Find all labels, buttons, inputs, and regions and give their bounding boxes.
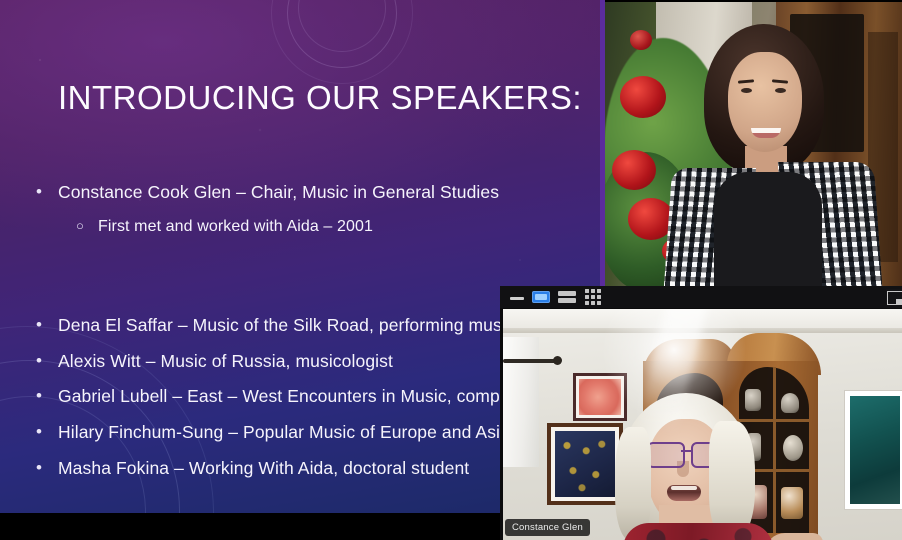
bullet-marker-icon: • — [36, 183, 58, 202]
slide-bullet-group-speakers: • Dena El Saffar – Music of the Silk Roa… — [36, 316, 538, 494]
video-shelf-item — [781, 487, 803, 519]
glasses-lens-left — [647, 442, 685, 468]
video-call-window[interactable]: Constance Glen — [500, 286, 902, 540]
photo-geranium-flower — [612, 150, 656, 190]
sub-bullet-marker-icon: ○ — [76, 219, 98, 233]
sub-bullet-text: First met and worked with Aida – 2001 — [98, 219, 373, 236]
participant-name-label: Constance Glen — [505, 519, 590, 536]
photo-left-border — [600, 0, 605, 286]
photo-person-eye — [741, 88, 752, 93]
photo-person-inner-top — [714, 172, 822, 286]
sub-bullet-item: ○ First met and worked with Aida – 2001 — [36, 219, 499, 236]
screen: INTRODUCING OUR SPEAKERS: • Constance Co… — [0, 0, 902, 540]
bullet-item: • Alexis Witt – Music of Russia, musicol… — [36, 352, 538, 371]
bullet-marker-icon: • — [36, 459, 58, 478]
photo-geranium-flower — [620, 76, 666, 118]
bullet-item: • Gabriel Lubell – East – West Encounter… — [36, 387, 538, 406]
slide-title: INTRODUCING OUR SPEAKERS: — [58, 79, 582, 117]
bullet-marker-icon: • — [36, 423, 58, 442]
side-by-side-view-icon[interactable] — [558, 291, 576, 303]
video-feed[interactable]: Constance Glen — [503, 309, 902, 540]
speaker-portrait-image — [604, 2, 902, 286]
bullet-item: • Constance Cook Glen – Chair, Music in … — [36, 183, 499, 202]
bullet-item: • Dena El Saffar – Music of the Silk Roa… — [36, 316, 538, 335]
video-shelf-item — [781, 393, 799, 413]
video-framed-art-right — [845, 391, 902, 509]
speaker-portrait-tile — [600, 0, 902, 286]
video-person-mouth — [667, 485, 701, 501]
bullet-text: Dena El Saffar – Music of the Silk Road,… — [58, 316, 538, 334]
video-window-curtain — [503, 337, 539, 467]
photo-geranium-flower — [630, 30, 652, 50]
bullet-text: Alexis Witt – Music of Russia, musicolog… — [58, 352, 393, 370]
video-curtain-rod-knob — [553, 356, 562, 365]
bullet-item: • Masha Fokina – Working With Aida, doct… — [36, 459, 538, 478]
gallery-view-icon[interactable] — [585, 289, 601, 305]
video-view-toolbar — [500, 286, 902, 308]
bullet-text: Gabriel Lubell – East – West Encounters … — [58, 387, 534, 405]
bullet-marker-icon: • — [36, 387, 58, 406]
bullet-item: • Hilary Finchum-Sung – Popular Music of… — [36, 423, 538, 442]
video-framed-art-lower-left — [547, 423, 623, 505]
bullet-marker-icon: • — [36, 352, 58, 371]
video-person-shirt — [623, 523, 773, 540]
bullet-marker-icon: • — [36, 316, 58, 335]
bullet-text: Constance Cook Glen – Chair, Music in Ge… — [58, 183, 499, 201]
bullet-text: Masha Fokina – Working With Aida, doctor… — [58, 459, 469, 477]
speaker-view-icon[interactable] — [532, 291, 550, 303]
bullet-text: Hilary Finchum-Sung – Popular Music of E… — [58, 423, 510, 441]
photo-person-eye — [775, 88, 786, 93]
slide-bullet-group-primary: • Constance Cook Glen – Chair, Music in … — [36, 183, 499, 252]
video-shelf-item — [783, 435, 803, 461]
video-cabinet-mullion — [773, 367, 776, 533]
video-cabinet-mullion — [739, 419, 809, 422]
minimize-icon[interactable] — [510, 292, 524, 303]
picture-in-picture-icon[interactable] — [886, 289, 902, 305]
